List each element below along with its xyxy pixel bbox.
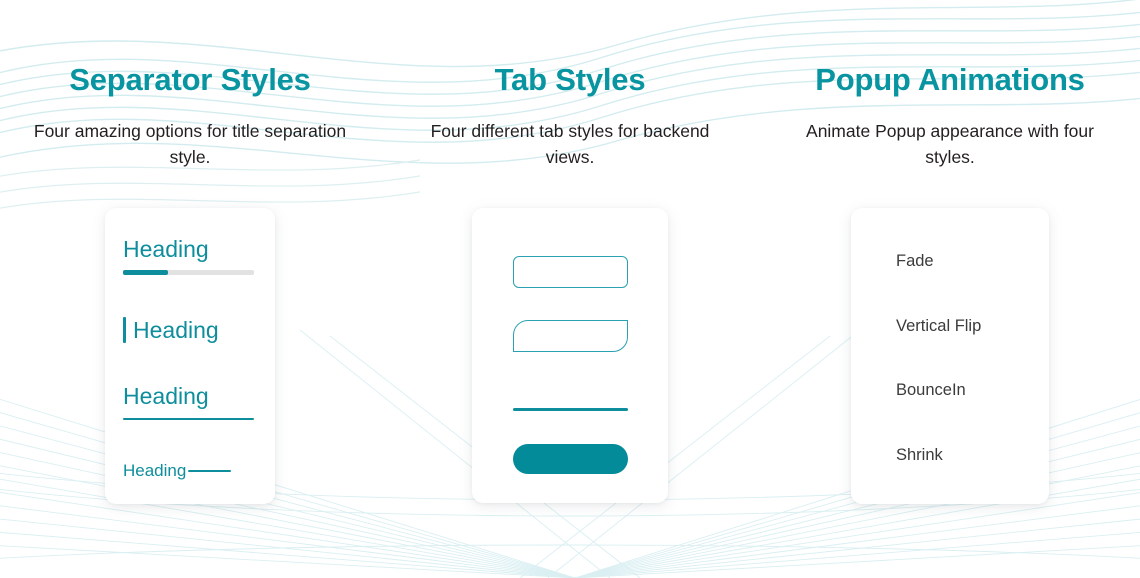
subtitle-popup-animations: Animate Popup appearance with four style… xyxy=(790,118,1110,171)
subtitle-separator-styles: Four amazing options for title separatio… xyxy=(30,118,350,171)
page-title-tab-styles: Tab Styles xyxy=(495,62,646,98)
list-item[interactable]: Fade xyxy=(851,252,934,272)
tab-style-outline-diagonal[interactable] xyxy=(513,320,628,352)
separator-style-trailing-line[interactable]: Heading xyxy=(123,462,257,481)
list-item[interactable]: BounceIn xyxy=(851,381,966,401)
separator-rule-trailing xyxy=(188,470,231,472)
separator-style-bar-over-rule[interactable]: Heading xyxy=(123,236,257,275)
column-separator-styles: Separator Styles Four amazing options fo… xyxy=(0,62,380,578)
tab-style-outline-rounded[interactable] xyxy=(513,256,628,288)
separator-heading-label: Heading xyxy=(133,317,219,344)
column-popup-animations: Popup Animations Animate Popup appearanc… xyxy=(760,62,1140,578)
separator-style-left-vertical-bar[interactable]: Heading xyxy=(123,317,257,344)
page-title-separator-styles: Separator Styles xyxy=(69,62,310,98)
page-title-popup-animations: Popup Animations xyxy=(815,62,1084,98)
subtitle-tab-styles: Four different tab styles for backend vi… xyxy=(410,118,730,171)
separator-heading-label: Heading xyxy=(123,383,257,410)
separator-rule-full xyxy=(123,418,254,420)
separator-rule-partial-bar xyxy=(123,270,254,275)
separator-preview-card: Heading Heading Heading Heading xyxy=(105,208,275,504)
vertical-bar-accent xyxy=(123,317,126,344)
separator-heading-label: Heading xyxy=(123,236,257,263)
separator-style-full-underline[interactable]: Heading xyxy=(123,383,257,420)
column-tab-styles: Tab Styles Four different tab styles for… xyxy=(380,62,760,578)
tab-style-line[interactable] xyxy=(513,408,628,411)
feature-columns: Separator Styles Four amazing options fo… xyxy=(0,0,1140,578)
separator-heading-label: Heading xyxy=(123,462,186,481)
list-item[interactable]: Vertical Flip xyxy=(851,317,981,337)
list-item[interactable]: Shrink xyxy=(851,446,943,466)
popup-animation-card: Fade Vertical Flip BounceIn Shrink xyxy=(851,208,1049,504)
tab-preview-card xyxy=(472,208,668,503)
tab-style-filled-pill[interactable] xyxy=(513,444,628,474)
